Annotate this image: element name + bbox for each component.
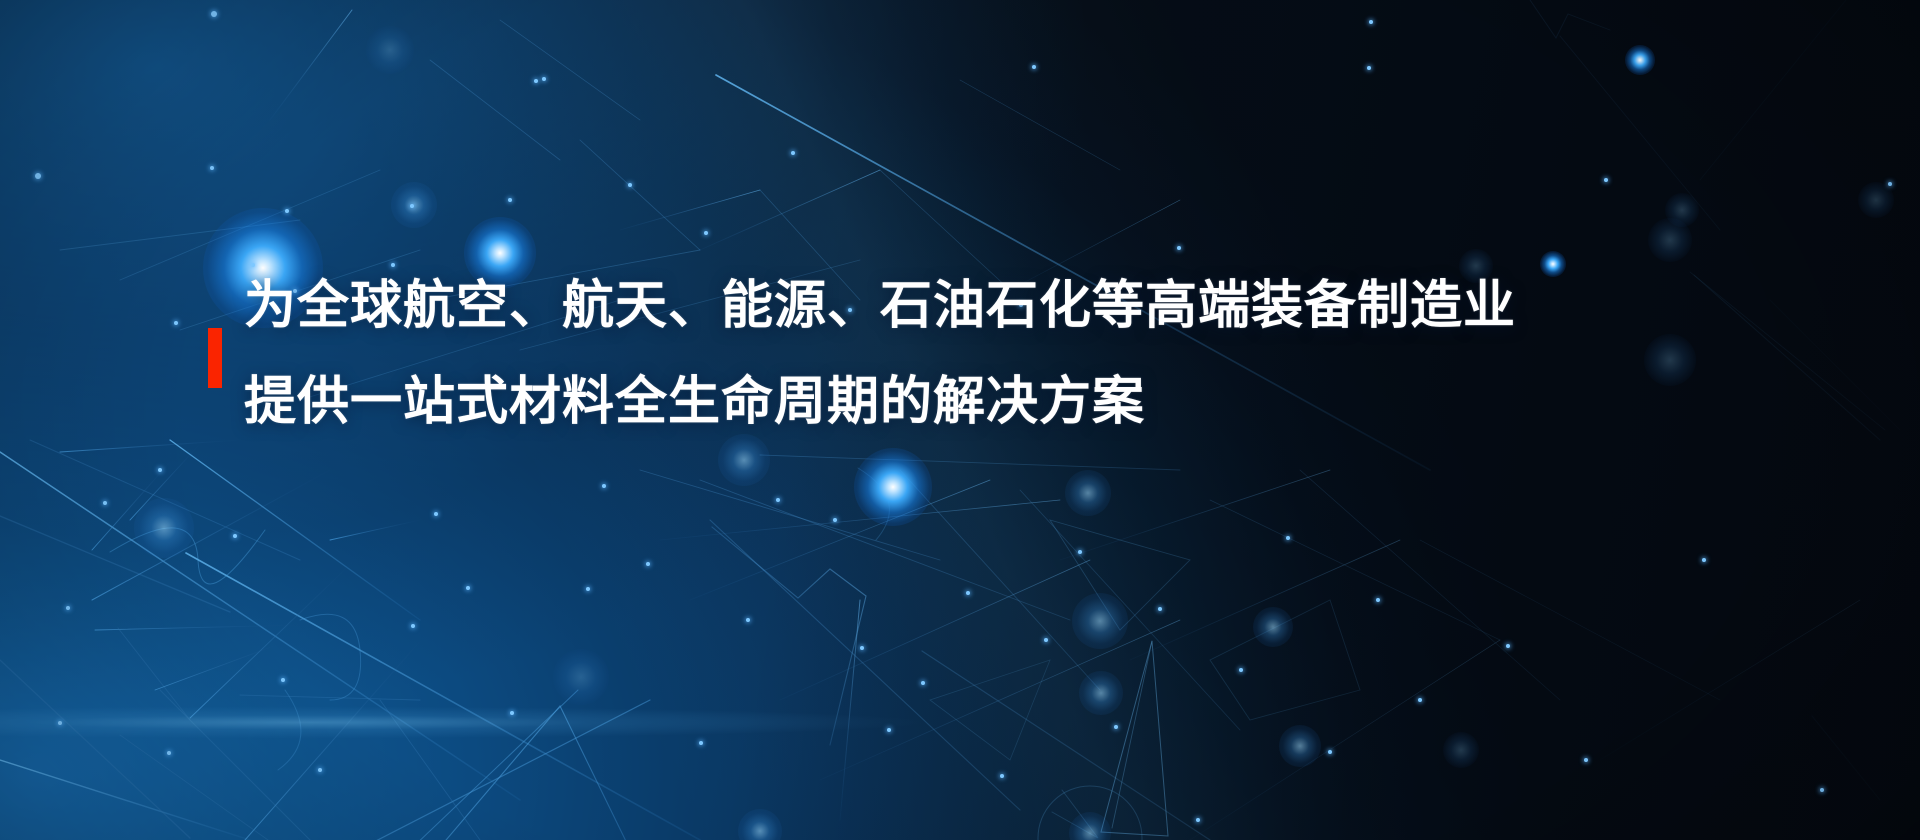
particle-dot <box>1286 536 1290 540</box>
particle-dot <box>860 646 864 650</box>
hero-banner: 为全球航空、航天、能源、石油石化等高端装备制造业 提供一站式材料全生命周期的解决… <box>0 0 1920 840</box>
particle-dot <box>1114 725 1118 729</box>
particle-dot <box>586 587 590 591</box>
particle-dot <box>1418 698 1422 702</box>
particle-dot <box>1820 788 1824 792</box>
particle-dot <box>1702 558 1706 562</box>
particle-dot <box>704 231 708 235</box>
particle-dot <box>833 518 837 522</box>
particle-dot <box>285 209 289 213</box>
particle-dot <box>1196 818 1200 822</box>
particle-dot <box>66 606 70 610</box>
particle-dot <box>1032 65 1036 69</box>
particle-dot <box>210 166 214 170</box>
particle-dot <box>699 741 703 745</box>
particle-dot <box>174 321 178 325</box>
particle-dot <box>103 501 107 505</box>
particle-dot <box>646 562 650 566</box>
particle-dot <box>1888 182 1892 186</box>
particle-dot <box>1239 668 1243 672</box>
accent-bar <box>208 328 222 388</box>
particle-dot <box>1000 774 1004 778</box>
particle-dot <box>167 751 171 755</box>
particle-dot <box>1604 178 1608 182</box>
particle-dot <box>921 681 925 685</box>
particle-dot <box>410 204 414 208</box>
particle-dot <box>1506 644 1510 648</box>
particle-dot <box>776 498 780 502</box>
particle-dot <box>233 534 237 538</box>
particle-dot <box>318 768 322 772</box>
particle-dot <box>1369 20 1373 24</box>
particle-dot <box>628 183 632 187</box>
particle-dot <box>966 591 970 595</box>
particle-dot <box>510 711 514 715</box>
particle-dot <box>1584 758 1588 762</box>
particle-dot <box>1376 598 1380 602</box>
particle-dot <box>602 484 606 488</box>
particle-dot <box>35 173 41 179</box>
particle-dot <box>411 624 415 628</box>
particle-dot <box>1177 246 1181 250</box>
particle-dot <box>1044 638 1048 642</box>
particle-dot <box>466 586 470 590</box>
particle-dot <box>211 11 217 17</box>
particle-dot <box>887 728 891 732</box>
particle-dot <box>1158 607 1162 611</box>
particle-dot <box>746 618 750 622</box>
particle-dot <box>1328 750 1332 754</box>
particle-dot <box>791 151 795 155</box>
particle-dot <box>542 77 546 81</box>
particle-dot <box>58 721 62 725</box>
particle-dot <box>434 512 438 516</box>
particle-dot <box>534 79 538 83</box>
headline-text: 为全球航空、航天、能源、石油石化等高端装备制造业 提供一站式材料全生命周期的解决… <box>244 258 1804 450</box>
particle-dot <box>508 198 512 202</box>
particle-dot <box>1078 550 1082 554</box>
particle-dot <box>1367 66 1371 70</box>
particle-dot <box>281 678 285 682</box>
particle-dot <box>158 468 162 472</box>
